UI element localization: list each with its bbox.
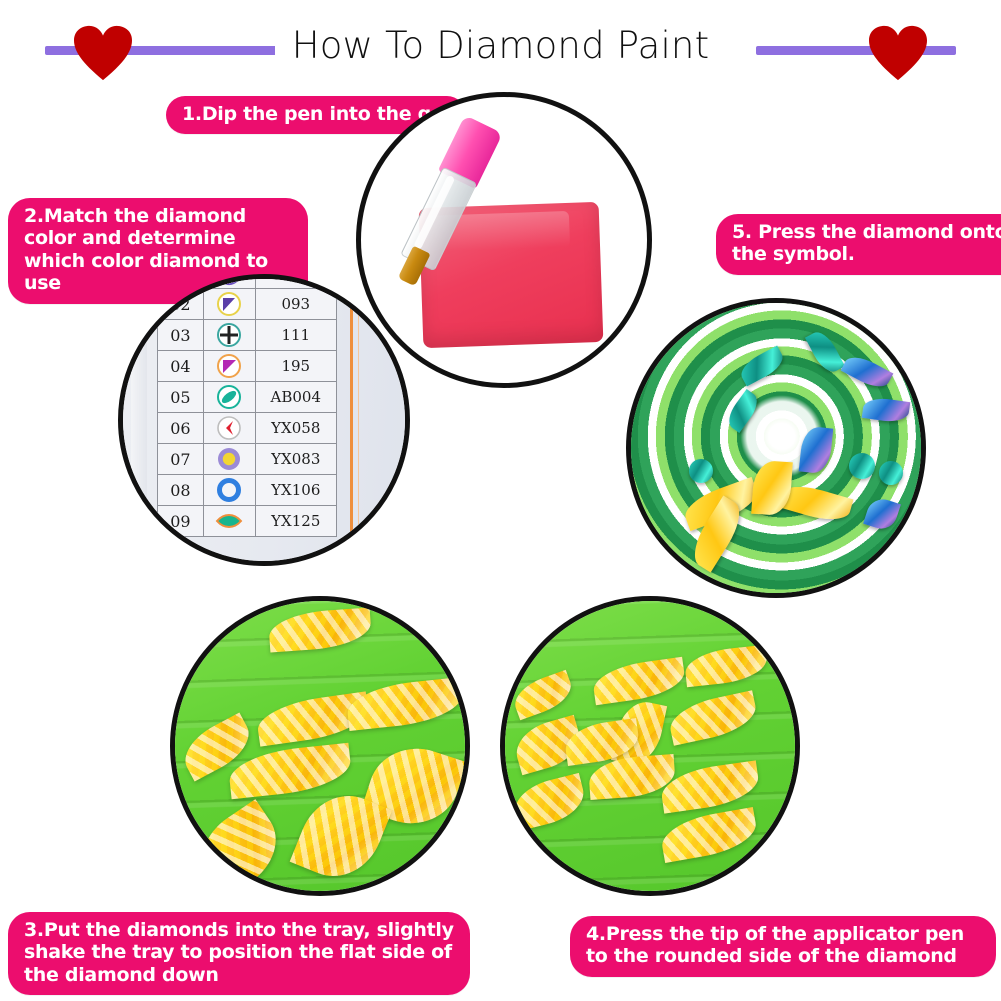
symbol-code-table: 01 028 02 xyxy=(157,274,337,537)
canvas-orange-guide xyxy=(350,279,353,561)
photo-symbol-color-chart: 01 028 02 xyxy=(123,279,405,561)
table-row: 05 AB004 xyxy=(158,382,337,413)
plus-cross-circle-symbol xyxy=(203,320,255,351)
photo-diamonds-in-tray xyxy=(175,601,465,891)
step-2-photo: 01 028 02 xyxy=(118,274,410,566)
rhinestone xyxy=(849,453,875,479)
canvas-left-edge xyxy=(131,279,147,561)
table-row: 09 YX125 xyxy=(158,506,337,537)
symbol-glyph xyxy=(215,383,243,411)
photo-pen-picking-up-diamond xyxy=(505,601,795,891)
symbol-glyph xyxy=(215,445,243,473)
yellow-dot-purple-ring-symbol xyxy=(203,444,255,475)
row-number: 03 xyxy=(158,320,204,351)
photo-pressing-diamond-onto-canvas xyxy=(631,303,921,593)
row-number: 05 xyxy=(158,382,204,413)
row-number: 09 xyxy=(158,506,204,537)
header: How To Diamond Paint xyxy=(0,18,1001,80)
row-code: 195 xyxy=(255,351,336,382)
table-row: 08 YX106 xyxy=(158,475,337,506)
row-code: 111 xyxy=(255,320,336,351)
row-code: YX083 xyxy=(255,444,336,475)
page-title: How To Diamond Paint xyxy=(0,18,1001,74)
symbol-glyph xyxy=(215,414,243,442)
teal-leaf-symbol xyxy=(203,506,255,537)
row-code: AB004 xyxy=(255,382,336,413)
row-code: YX058 xyxy=(255,413,336,444)
symbol-code-table-body: 01 028 02 xyxy=(158,274,337,537)
table-row: 07 YX083 xyxy=(158,444,337,475)
poster-canvas: How To Diamond Paint 1.Dip the pen into … xyxy=(0,0,1001,1001)
magenta-triangle-circle-symbol xyxy=(203,351,255,382)
red-chevron-circle-symbol xyxy=(203,413,255,444)
table-row: 06 YX058 xyxy=(158,413,337,444)
symbol-glyph xyxy=(215,352,243,380)
table-row: 03 111 xyxy=(158,320,337,351)
symbol-glyph xyxy=(215,476,243,504)
step-4-label: 4.Press the tip of the applicator pen to… xyxy=(570,916,996,977)
row-number: 08 xyxy=(158,475,204,506)
step-4-photo: Pen tip touching a yellow diamond in the… xyxy=(500,596,800,896)
step-5-photo: Pen placing a yellow diamond onto a gree… xyxy=(626,298,926,598)
canvas-orange-guide-2 xyxy=(358,279,359,561)
rhinestone xyxy=(689,459,713,483)
blue-ring-symbol xyxy=(203,475,255,506)
row-number: 06 xyxy=(158,413,204,444)
row-code: 093 xyxy=(255,289,336,320)
row-number: 02 xyxy=(158,289,204,320)
step-3-photo: Yellow marquise faceted diamonds lying i… xyxy=(170,596,470,896)
symbol-glyph xyxy=(215,507,243,535)
symbol-glyph xyxy=(215,321,243,349)
step-5-label: 5. Press the diamond onto the symbol. xyxy=(716,214,1001,275)
rhinestone xyxy=(879,461,903,485)
symbol-glyph xyxy=(215,290,243,318)
row-code: YX106 xyxy=(255,475,336,506)
row-number: 04 xyxy=(158,351,204,382)
row-code: YX125 xyxy=(255,506,336,537)
table-row: 04 195 xyxy=(158,351,337,382)
row-number: 07 xyxy=(158,444,204,475)
filled-triangle-circle-symbol xyxy=(203,289,255,320)
table-row: 02 093 xyxy=(158,289,337,320)
teal-oval-circle-symbol xyxy=(203,382,255,413)
step-3-label: 3.Put the diamonds into the tray, slight… xyxy=(8,912,470,995)
